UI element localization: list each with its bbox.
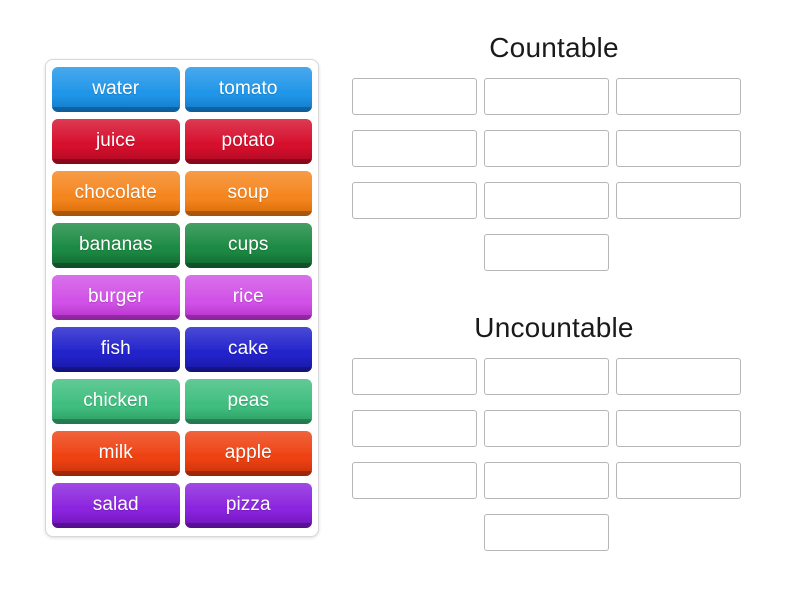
word-tile-label: chocolate <box>75 183 157 204</box>
word-tile-label: burger <box>88 287 144 308</box>
word-tile[interactable]: juice <box>52 119 180 164</box>
drop-slot[interactable] <box>352 358 477 395</box>
word-tile[interactable]: fish <box>52 327 180 372</box>
word-tile[interactable]: milk <box>52 431 180 476</box>
drop-slot-grid-uncountable <box>352 358 756 551</box>
drop-slot[interactable] <box>484 130 609 167</box>
word-tile[interactable]: tomato <box>185 67 313 112</box>
category-uncountable: Uncountable <box>352 312 756 551</box>
drop-slot[interactable] <box>484 462 609 499</box>
word-tile[interactable]: chocolate <box>52 171 180 216</box>
word-tile-label: tomato <box>219 79 278 100</box>
word-tile-label: water <box>92 79 139 100</box>
word-tile[interactable]: water <box>52 67 180 112</box>
drop-slot[interactable] <box>616 182 741 219</box>
word-tile-label: soup <box>227 183 269 204</box>
drop-slot[interactable] <box>616 358 741 395</box>
drop-slot[interactable] <box>484 410 609 447</box>
word-tile[interactable]: cups <box>185 223 313 268</box>
drop-slot[interactable] <box>616 410 741 447</box>
word-tile-label: apple <box>225 443 272 464</box>
drop-slot[interactable] <box>484 78 609 115</box>
word-tile-tray: watertomatojuicepotatochocolatesoupbanan… <box>45 59 319 537</box>
word-tile-label: rice <box>233 287 264 308</box>
word-tile-label: cake <box>228 339 269 360</box>
drop-slot[interactable] <box>484 182 609 219</box>
drop-slot[interactable] <box>352 130 477 167</box>
word-tile-label: potato <box>222 131 275 152</box>
category-countable: Countable <box>352 32 756 271</box>
word-tile-label: juice <box>96 131 136 152</box>
word-tile[interactable]: cake <box>185 327 313 372</box>
drop-slot[interactable] <box>484 358 609 395</box>
word-tile-label: cups <box>228 235 269 256</box>
word-tile-label: chicken <box>83 391 148 412</box>
word-tile-label: fish <box>101 339 131 360</box>
word-tile[interactable]: pizza <box>185 483 313 528</box>
word-tile[interactable]: soup <box>185 171 313 216</box>
word-tile-label: bananas <box>79 235 153 256</box>
drop-slot[interactable] <box>616 130 741 167</box>
drop-slot[interactable] <box>352 182 477 219</box>
word-tile[interactable]: chicken <box>52 379 180 424</box>
drop-slot[interactable] <box>484 234 609 271</box>
drop-slot[interactable] <box>352 462 477 499</box>
word-tile-label: peas <box>227 391 269 412</box>
drop-slot[interactable] <box>616 78 741 115</box>
drop-slot[interactable] <box>352 78 477 115</box>
drop-slot[interactable] <box>616 462 741 499</box>
word-tile-label: salad <box>93 495 139 516</box>
drop-slot[interactable] <box>484 514 609 551</box>
word-tile[interactable]: bananas <box>52 223 180 268</box>
drop-slot[interactable] <box>352 410 477 447</box>
word-tile-label: milk <box>99 443 133 464</box>
word-tile[interactable]: salad <box>52 483 180 528</box>
word-tile[interactable]: burger <box>52 275 180 320</box>
word-tile[interactable]: rice <box>185 275 313 320</box>
drop-slot-grid-countable <box>352 78 756 271</box>
word-tile[interactable]: apple <box>185 431 313 476</box>
word-tile[interactable]: potato <box>185 119 313 164</box>
word-tile-grid: watertomatojuicepotatochocolatesoupbanan… <box>52 67 312 528</box>
category-title-uncountable: Uncountable <box>352 312 756 344</box>
word-tile-label: pizza <box>226 495 271 516</box>
category-title-countable: Countable <box>352 32 756 64</box>
word-tile[interactable]: peas <box>185 379 313 424</box>
